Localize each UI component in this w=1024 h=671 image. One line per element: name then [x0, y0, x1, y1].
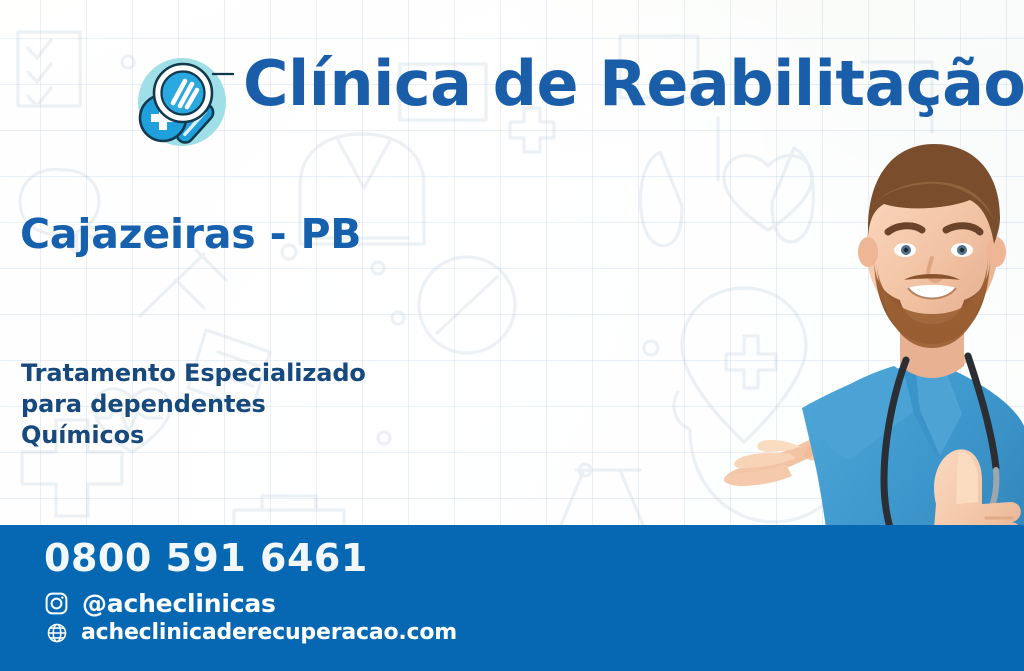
tagline-line-1: Tratamento Especializado [21, 358, 366, 389]
tagline-line-3: Químicos [21, 420, 366, 451]
globe-icon [46, 622, 68, 644]
city-label: Cajazeiras - PB [20, 214, 361, 255]
tagline: Tratamento Especializado para dependente… [21, 358, 366, 451]
phone-number[interactable]: 0800 591 6461 [44, 539, 368, 577]
tagline-line-2: para dependentes [21, 389, 366, 420]
instagram-handle: @acheclinicas [82, 589, 276, 618]
page-title: Clínica de Reabilitação [243, 53, 1024, 115]
website-contact[interactable]: acheclinicaderecuperacao.com [44, 620, 457, 645]
clinic-banner: Clínica de Reabilitação Cajazeiras - PB … [0, 0, 1024, 671]
magnifier-plus-logo-icon [126, 52, 234, 154]
instagram-contact[interactable]: @acheclinicas [44, 589, 276, 618]
instagram-icon [44, 591, 69, 616]
website-url: acheclinicaderecuperacao.com [81, 620, 457, 645]
